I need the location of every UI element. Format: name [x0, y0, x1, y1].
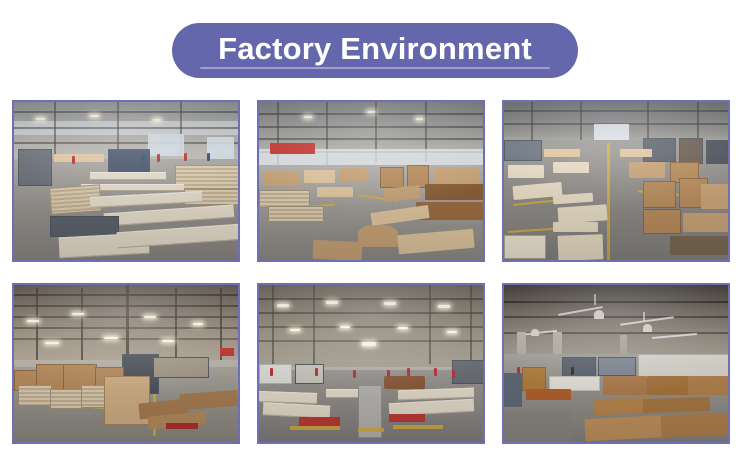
gallery-photo-3[interactable] [502, 100, 730, 262]
gallery-photo-1[interactable] [12, 100, 240, 262]
banner-underline-accent [200, 67, 550, 69]
gallery-photo-4[interactable] [12, 283, 240, 444]
gallery-row-2 [12, 283, 738, 444]
factory-photo-4-image [14, 285, 238, 442]
factory-photo-6-image [504, 285, 728, 442]
gallery-row-1 [12, 100, 738, 262]
factory-photo-3-image [504, 102, 728, 260]
factory-photo-5-image [259, 285, 483, 442]
factory-photo-1-image [14, 102, 238, 260]
gallery-photo-2[interactable] [257, 100, 485, 262]
page-title: Factory Environment [218, 33, 532, 64]
factory-photo-2-image [259, 102, 483, 260]
factory-photo-gallery [12, 100, 738, 444]
gallery-photo-6[interactable] [502, 283, 730, 444]
gallery-photo-5[interactable] [257, 283, 485, 444]
page-title-banner: Factory Environment [172, 23, 578, 78]
page-header: Factory Environment [0, 22, 750, 78]
